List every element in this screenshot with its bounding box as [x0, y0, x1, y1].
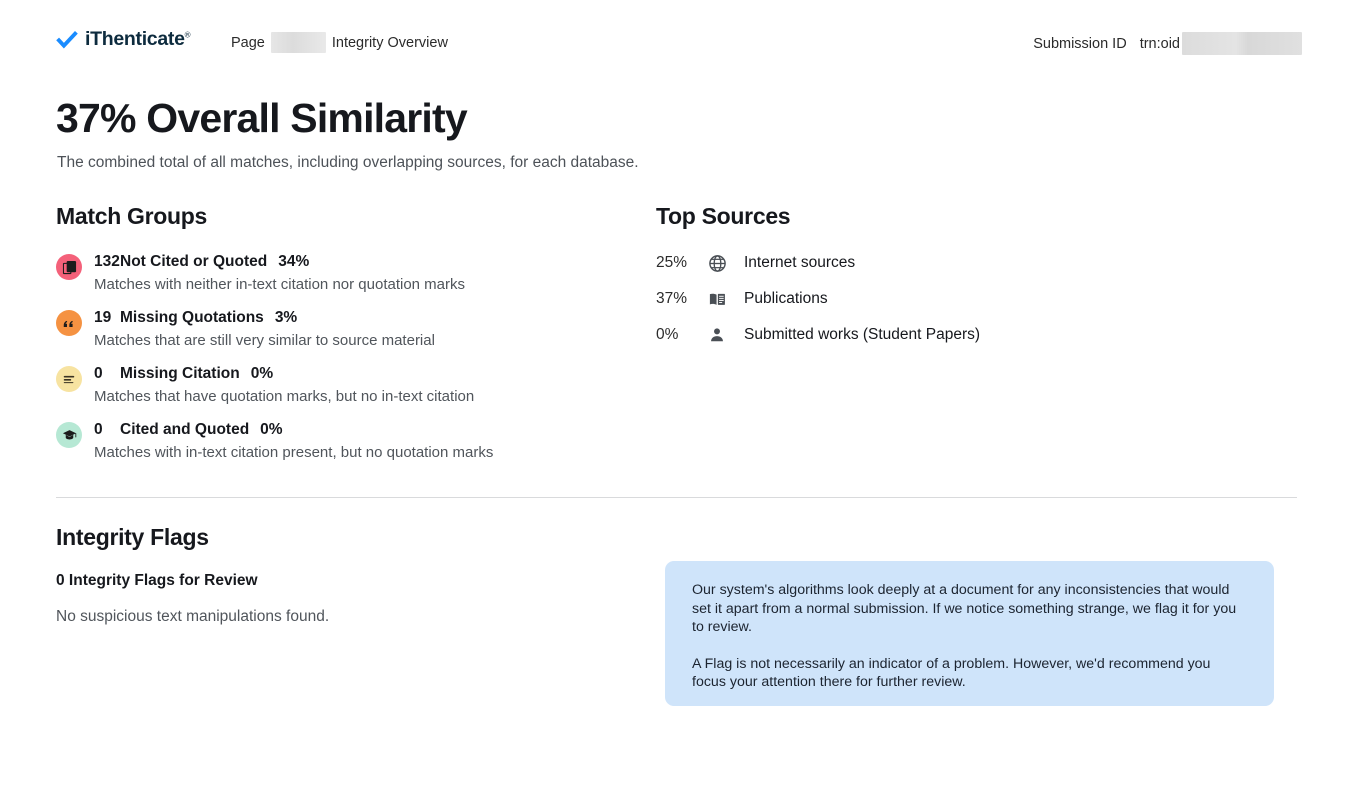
section-divider: [56, 497, 1297, 498]
document-copy-glyph: [62, 260, 77, 275]
person-glyph: [708, 326, 726, 344]
match-group-name: Cited and Quoted: [120, 421, 249, 438]
logo-text-label: iThenticate: [85, 28, 185, 50]
text-lines-icon: [56, 366, 82, 392]
match-group-summary: 132Not Cited or Quoted34%: [94, 252, 465, 272]
match-group-summary: 0Missing Citation0%: [94, 364, 474, 384]
match-groups-heading: Match Groups: [56, 203, 636, 230]
match-group-row[interactable]: 19Missing Quotations3% Matches that are …: [56, 308, 636, 351]
match-group-row[interactable]: 0Missing Citation0% Matches that have qu…: [56, 364, 636, 407]
ithenticate-logo[interactable]: iThenticate®: [56, 28, 190, 51]
top-source-label: Submitted works (Student Papers): [744, 326, 980, 344]
top-source-percent: 0%: [656, 326, 706, 344]
breadcrumb-redacted-value: [271, 32, 326, 53]
match-group-count: 0: [94, 420, 120, 440]
match-group-summary: 0Cited and Quoted0%: [94, 420, 493, 440]
match-group-body: 0Cited and Quoted0% Matches with in-text…: [94, 420, 493, 463]
match-group-body: 19Missing Quotations3% Matches that are …: [94, 308, 435, 351]
page-header: iThenticate® Page Integrity Overview Sub…: [0, 28, 1357, 60]
top-source-percent: 25%: [656, 254, 706, 272]
document-copy-icon: [56, 254, 82, 280]
match-group-row[interactable]: 132Not Cited or Quoted34% Matches with n…: [56, 252, 636, 295]
match-group-description: Matches with in-text citation present, b…: [94, 443, 493, 463]
top-sources-list: 25% Internet sources 37%: [656, 252, 1216, 346]
match-group-row[interactable]: 0Cited and Quoted0% Matches with in-text…: [56, 420, 636, 463]
breadcrumb-current-page[interactable]: Integrity Overview: [332, 35, 448, 51]
match-group-body: 0Missing Citation0% Matches that have qu…: [94, 364, 474, 407]
match-groups-section: Match Groups 132Not Cited or Quoted34% M…: [56, 203, 636, 476]
integrity-flags-section: Integrity Flags 0 Integrity Flags for Re…: [56, 524, 616, 626]
match-group-percent: 0%: [260, 421, 282, 438]
top-sources-section: Top Sources 25% Internet sources 37%: [656, 203, 1216, 360]
top-sources-heading: Top Sources: [656, 203, 1216, 230]
registered-mark: ®: [185, 31, 191, 40]
match-group-name: Missing Citation: [120, 365, 240, 382]
submission-id-block: Submission ID trn:oid: [1033, 32, 1302, 55]
match-group-description: Matches that are still very similar to s…: [94, 331, 435, 351]
quotation-marks-glyph: [62, 316, 76, 330]
match-groups-list: 132Not Cited or Quoted34% Matches with n…: [56, 252, 636, 463]
page-title: 37% Overall Similarity: [56, 95, 467, 142]
integrity-info-callout: Our system's algorithms look deeply at a…: [665, 561, 1274, 706]
blue-check-icon: [56, 29, 78, 51]
logo-wordmark: iThenticate®: [85, 28, 190, 51]
match-group-count: 132: [94, 252, 120, 272]
breadcrumb: Page Integrity Overview: [231, 32, 448, 53]
submission-id-prefix: trn:oid: [1140, 36, 1180, 52]
match-group-description: Matches that have quotation marks, but n…: [94, 387, 474, 407]
book-glyph: [708, 290, 727, 309]
person-icon: [706, 326, 728, 344]
top-source-row[interactable]: 25% Internet sources: [656, 252, 1216, 274]
submission-id-label: Submission ID: [1033, 36, 1126, 52]
match-group-percent: 0%: [251, 365, 273, 382]
page-subtitle: The combined total of all matches, inclu…: [57, 154, 639, 172]
graduation-cap-icon: [56, 422, 82, 448]
top-source-row[interactable]: 0% Submitted works (Student Papers): [656, 324, 1216, 346]
match-group-percent: 3%: [275, 309, 297, 326]
integrity-flags-heading: Integrity Flags: [56, 524, 616, 551]
breadcrumb-page-label: Page: [231, 35, 265, 51]
match-group-name: Missing Quotations: [120, 309, 264, 326]
match-group-summary: 19Missing Quotations3%: [94, 308, 435, 328]
match-group-description: Matches with neither in-text citation no…: [94, 275, 465, 295]
match-group-count: 19: [94, 308, 120, 328]
globe-glyph: [708, 254, 727, 273]
top-source-label: Internet sources: [744, 254, 855, 272]
match-group-name: Not Cited or Quoted: [120, 253, 267, 270]
text-lines-glyph: [62, 372, 76, 386]
integrity-flags-count: 0 Integrity Flags for Review: [56, 572, 616, 590]
callout-paragraph-1: Our system's algorithms look deeply at a…: [692, 581, 1248, 637]
match-group-body: 132Not Cited or Quoted34% Matches with n…: [94, 252, 465, 295]
integrity-flags-note: No suspicious text manipulations found.: [56, 608, 616, 626]
top-source-label: Publications: [744, 290, 828, 308]
book-icon: [706, 290, 728, 309]
submission-id-redacted-value: [1182, 32, 1302, 55]
quotation-marks-icon: [56, 310, 82, 336]
callout-paragraph-2: A Flag is not necessarily an indicator o…: [692, 655, 1248, 692]
globe-icon: [706, 254, 728, 273]
top-source-percent: 37%: [656, 290, 706, 308]
match-group-count: 0: [94, 364, 120, 384]
graduation-cap-glyph: [62, 428, 77, 443]
match-group-percent: 34%: [278, 253, 309, 270]
top-source-row[interactable]: 37% Publications: [656, 288, 1216, 310]
